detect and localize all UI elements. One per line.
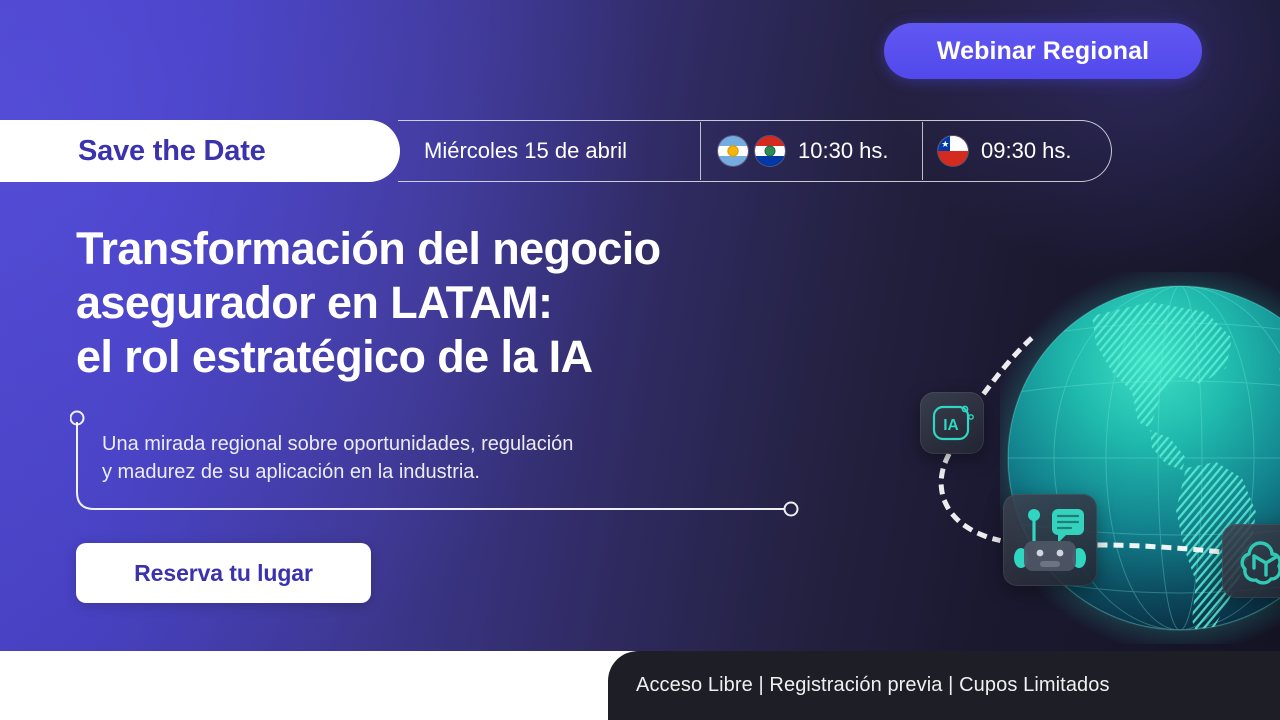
argentina-flag [718,136,748,166]
timezone-cl-time: 09:30 hs. [981,138,1072,164]
footer-bar: Acceso Libre | Registración previa | Cup… [608,651,1280,720]
webinar-regional-badge[interactable]: Webinar Regional [884,23,1202,79]
openai-knot-icon [1222,524,1280,598]
strip-divider [922,122,923,180]
reserve-spot-button[interactable]: Reserva tu lugar [76,543,371,603]
argentina-sun-icon [729,147,738,156]
timezone-ar-py: 10:30 hs. [718,120,889,182]
save-the-date-strip: Save the Date Miércoles 15 de abril 10:3… [0,120,1120,182]
chatbot-robot-icon [1003,494,1097,586]
save-the-date-pill: Save the Date [0,120,400,182]
webinar-date-text: Miércoles 15 de abril [424,138,627,164]
timezone-ar-py-time: 10:30 hs. [798,138,889,164]
headline-line-2: asegurador en LATAM: [76,276,896,330]
subtitle-line-2: y madurez de su aplicación en la industr… [102,458,802,486]
save-the-date-label: Save the Date [78,135,266,168]
webinar-promo-canvas: IA [0,0,1280,720]
webinar-date: Miércoles 15 de abril [424,120,627,182]
subtitle: Una mirada regional sobre oportunidades,… [102,430,802,486]
paraguay-flag [755,136,785,166]
headline-line-3: el rol estratégico de la IA [76,330,896,384]
subtitle-line-1: Una mirada regional sobre oportunidades,… [102,430,802,458]
footer-text: Acceso Libre | Registración previa | Cup… [636,674,1110,697]
svg-text:IA: IA [943,417,959,434]
timezone-cl: 09:30 hs. [938,120,1072,182]
paraguay-emblem-icon [766,147,775,156]
chile-flag [938,136,968,166]
strip-divider [700,122,701,180]
flag-group [718,136,785,166]
headline-line-1: Transformación del negocio [76,222,896,276]
ia-chip-icon: IA [920,392,984,454]
page-title: Transformación del negocio asegurador en… [76,222,896,384]
flag-group [938,136,968,166]
